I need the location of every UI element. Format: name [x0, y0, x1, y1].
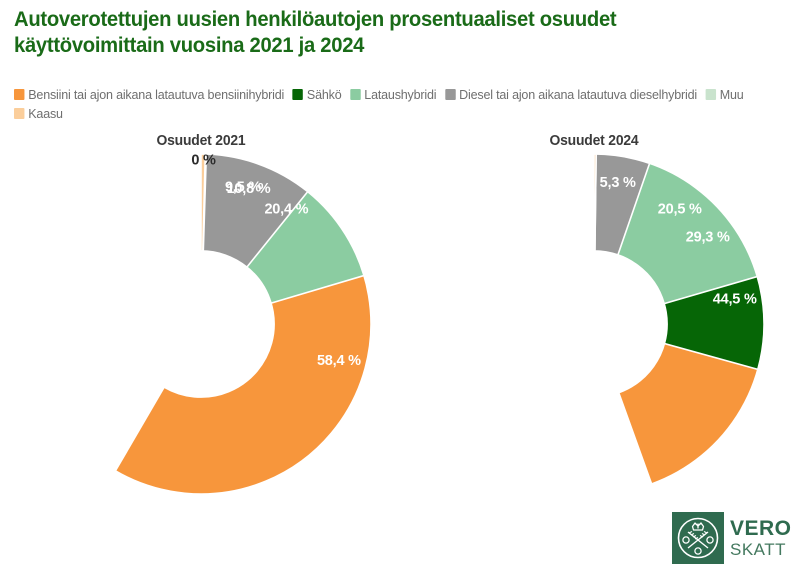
donut-chart-2024: Osuudet 2024 44,5 %29,3 %20,5 %5,3 %	[418, 130, 770, 496]
legend-label: Kaasu	[28, 106, 63, 121]
legend-item-muu[interactable]: Muu	[706, 86, 744, 103]
donut-canvas-2024: 44,5 %29,3 %20,5 %5,3 %	[418, 152, 770, 496]
donut-title-2021: Osuudet 2021	[32, 130, 370, 152]
donut-slice-label: 20,4 %	[264, 201, 308, 217]
chart-legend: Bensiini tai ajon aikana latautuva bensi…	[14, 86, 746, 122]
legend-swatch-icon	[14, 108, 24, 119]
legend-swatch-icon	[293, 89, 303, 100]
legend-label: Muu	[720, 87, 744, 102]
legend-item-sahko[interactable]: Sähkö	[293, 86, 342, 103]
donut-slice-label: 10,8 %	[227, 181, 271, 197]
legend-swatch-icon	[350, 89, 360, 100]
legend-label: Diesel tai ajon aikana latautuva dieselh…	[459, 87, 697, 102]
donut-canvas-2021: 58,4 %9,5 %20,4 %10,8 %0 %	[25, 152, 377, 496]
legend-swatch-icon	[445, 89, 455, 100]
legend-swatch-icon	[706, 89, 716, 100]
logo-word-skatt: SKATT	[730, 541, 792, 558]
legend-item-bensiini[interactable]: Bensiini tai ajon aikana latautuva bensi…	[14, 86, 284, 103]
donut-chart-2021: Osuudet 2021 58,4 %9,5 %20,4 %10,8 %0 %	[25, 130, 377, 496]
donut-slices-2021	[115, 154, 371, 494]
legend-item-diesel[interactable]: Diesel tai ajon aikana latautuva dieselh…	[445, 86, 697, 103]
donut-slice-label: 5,3 %	[600, 175, 636, 191]
legend-swatch-icon	[14, 89, 24, 100]
donut-slice-label: 0 %	[191, 153, 216, 169]
donut-title-2024: Osuudet 2024	[425, 130, 763, 152]
logo-wordmark: VERO SKATT	[730, 518, 792, 558]
legend-label: Lataushybridi	[364, 87, 436, 102]
donut-slice[interactable]	[594, 154, 596, 251]
vero-skatt-logo: VERO SKATT	[672, 512, 784, 564]
legend-item-kaasu[interactable]: Kaasu	[14, 105, 63, 122]
legend-label: Bensiini tai ajon aikana latautuva bensi…	[28, 87, 284, 102]
legend-item-lataushybridi[interactable]: Lataushybridi	[350, 86, 436, 103]
vero-skatt-crest-icon	[672, 512, 724, 564]
page-title: Autoverotettujen uusien henkilöautojen p…	[14, 6, 728, 58]
donut-slice-label: 29,3 %	[686, 229, 730, 245]
donut-svg-2024: 44,5 %29,3 %20,5 %5,3 %	[418, 152, 770, 496]
donut-slice-label: 20,5 %	[658, 202, 702, 218]
donut-slice-label: 44,5 %	[713, 291, 757, 307]
donut-svg-2021: 58,4 %9,5 %20,4 %10,8 %0 %	[25, 152, 377, 496]
legend-label: Sähkö	[307, 87, 342, 102]
donut-slice-label: 58,4 %	[317, 353, 361, 369]
logo-word-vero: VERO	[730, 518, 792, 539]
